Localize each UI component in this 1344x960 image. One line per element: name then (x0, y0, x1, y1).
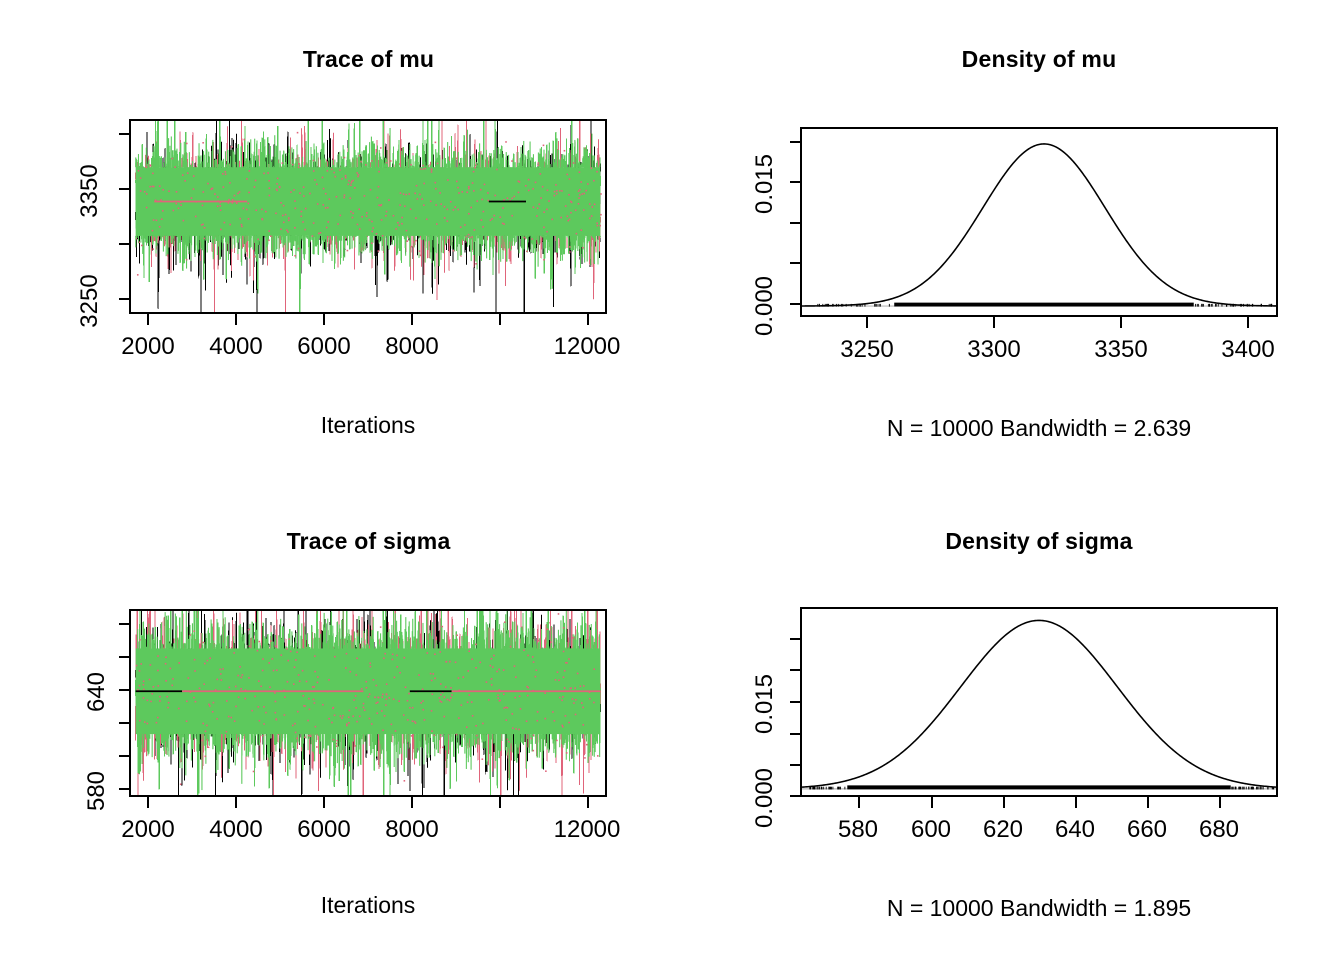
xtick-label-trace-mu-4000: 4000 (186, 333, 286, 361)
panel-title-trace-mu: Trace of mu (130, 46, 607, 73)
xtick-label-trace-sigma-2000: 2000 (98, 816, 198, 844)
figure-canvas: Trace of mu 3350 3250 2000 4000 6000 800… (0, 0, 1344, 960)
xtick-label-trace-mu-6000: 6000 (274, 333, 374, 361)
xtick-trace-mu-4000 (235, 314, 237, 325)
xtick-label-trace-sigma-8000: 8000 (362, 816, 462, 844)
xtick-trace-sigma-2000 (147, 797, 149, 808)
xtick-density-mu-3300 (993, 317, 995, 328)
plot-area-density-sigma (800, 607, 1278, 797)
ytick-trace-sigma-2 (119, 689, 130, 691)
panel-title-density-mu: Density of mu (800, 46, 1278, 73)
xtick-label-density-mu-3250: 3250 (817, 336, 917, 364)
plot-area-trace-sigma (129, 609, 607, 797)
ytick-trace-mu-3 (119, 298, 130, 300)
ytick-trace-sigma-3 (119, 722, 130, 724)
ytick-label-trace-mu-3350: 3350 (76, 141, 104, 241)
ytick-trace-mu-1 (119, 188, 130, 190)
ytick-density-mu-4 (790, 303, 801, 305)
xtick-density-mu-3350 (1120, 317, 1122, 328)
xtick-trace-sigma-10000 (499, 797, 501, 808)
ytick-density-sigma-4 (790, 764, 801, 766)
xaxis-title-trace-mu: Iterations (168, 412, 568, 439)
xtick-density-sigma-680 (1219, 797, 1221, 808)
caption-density-sigma: N = 10000 Bandwidth = 1.895 (789, 895, 1289, 922)
xtick-label-trace-mu-12000: 12000 (537, 333, 637, 361)
caption-density-mu: N = 10000 Bandwidth = 2.639 (789, 415, 1289, 442)
xtick-trace-mu-10000 (499, 314, 501, 325)
ytick-density-mu-3 (790, 262, 801, 264)
ytick-density-sigma-5 (790, 795, 801, 797)
xtick-label-trace-sigma-4000: 4000 (186, 816, 286, 844)
ytick-label-density-sigma-0000: 0.000 (751, 748, 779, 848)
xtick-trace-mu-12000 (587, 314, 589, 325)
ytick-density-sigma-2 (790, 701, 801, 703)
ytick-label-density-mu-0000: 0.000 (751, 256, 779, 356)
ytick-label-density-sigma-0015: 0.015 (751, 654, 779, 754)
xtick-trace-mu-6000 (323, 314, 325, 325)
ytick-trace-mu-0 (119, 133, 130, 135)
plot-area-density-mu (800, 127, 1278, 317)
ytick-label-trace-sigma-640: 640 (83, 642, 111, 742)
xtick-trace-mu-8000 (411, 314, 413, 325)
xtick-trace-mu-2000 (147, 314, 149, 325)
ytick-density-sigma-0 (790, 638, 801, 640)
xtick-label-trace-mu-2000: 2000 (98, 333, 198, 361)
xtick-density-sigma-600 (931, 797, 933, 808)
xtick-label-trace-sigma-6000: 6000 (274, 816, 374, 844)
xtick-trace-sigma-4000 (235, 797, 237, 808)
ytick-trace-sigma-4 (119, 755, 130, 757)
xtick-trace-sigma-8000 (411, 797, 413, 808)
xaxis-title-trace-sigma: Iterations (168, 892, 568, 919)
ytick-density-mu-1 (790, 181, 801, 183)
ytick-density-mu-0 (790, 141, 801, 143)
xtick-trace-sigma-6000 (323, 797, 325, 808)
ytick-density-sigma-1 (790, 669, 801, 671)
xtick-density-mu-3250 (866, 317, 868, 328)
xtick-label-density-mu-3350: 3350 (1071, 336, 1171, 364)
plot-area-trace-mu (129, 119, 607, 314)
xtick-density-sigma-660 (1147, 797, 1149, 808)
ytick-trace-sigma-0 (119, 623, 130, 625)
ytick-label-density-mu-0015: 0.015 (751, 134, 779, 234)
xtick-density-mu-3400 (1247, 317, 1249, 328)
panel-title-trace-sigma: Trace of sigma (130, 528, 607, 555)
ytick-trace-sigma-5 (119, 788, 130, 790)
xtick-trace-sigma-12000 (587, 797, 589, 808)
xtick-density-sigma-580 (858, 797, 860, 808)
xtick-label-density-mu-3300: 3300 (944, 336, 1044, 364)
xtick-label-trace-mu-8000: 8000 (362, 333, 462, 361)
ytick-trace-mu-2 (119, 243, 130, 245)
ytick-density-mu-2 (790, 222, 801, 224)
ytick-density-sigma-3 (790, 733, 801, 735)
xtick-density-sigma-640 (1075, 797, 1077, 808)
xtick-label-density-mu-3400: 3400 (1198, 336, 1298, 364)
ytick-trace-sigma-1 (119, 656, 130, 658)
panel-title-density-sigma: Density of sigma (800, 528, 1278, 555)
xtick-label-density-sigma-680: 680 (1174, 816, 1264, 844)
xtick-density-sigma-620 (1003, 797, 1005, 808)
xtick-label-trace-sigma-12000: 12000 (537, 816, 637, 844)
